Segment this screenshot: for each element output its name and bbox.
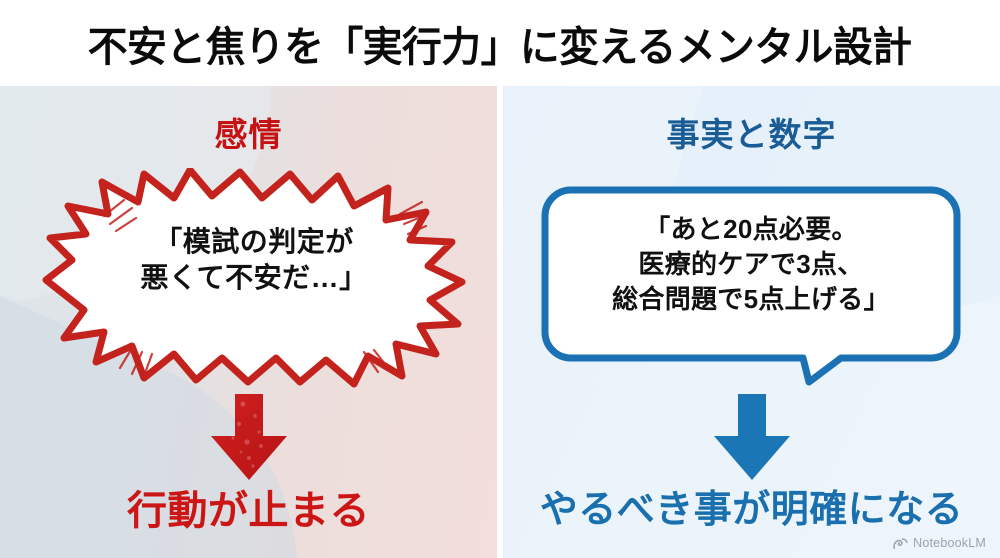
conclusion-facts: やるべき事が明確になる bbox=[503, 478, 1000, 533]
notebooklm-watermark: NotebookLM bbox=[893, 536, 986, 550]
burst-bubble-line-1: 「模試の判定が bbox=[28, 224, 480, 260]
panel-facts: 事実と数字 「あと20点必要。 医療的ケアで3点、 総合問題で5点上げる」 やる… bbox=[503, 86, 1000, 558]
rounded-speech-bubble: 「あと20点必要。 医療的ケアで3点、 総合問題で5点上げる」 bbox=[541, 186, 961, 386]
burst-speech-bubble: 「模試の判定が 悪くて不安だ…」 bbox=[28, 168, 480, 390]
panel-header-facts: 事実と数字 bbox=[503, 108, 1000, 156]
panel-emotion: 感情 「模試の判定が bbox=[0, 86, 497, 558]
speech-bubble-text: 「あと20点必要。 医療的ケアで3点、 総合問題で5点上げる」 bbox=[541, 212, 961, 316]
down-arrow-red-icon bbox=[203, 394, 295, 480]
page-title: 不安と焦りを「実行力」に変えるメンタル設計 bbox=[88, 13, 912, 73]
notebooklm-icon bbox=[893, 537, 908, 550]
burst-bubble-text: 「模試の判定が 悪くて不安だ…」 bbox=[28, 224, 480, 296]
speech-bubble-line-1: 「あと20点必要。 bbox=[541, 212, 961, 247]
title-band: 不安と焦りを「実行力」に変えるメンタル設計 bbox=[0, 0, 1000, 86]
conclusion-emotion: 行動が止まる bbox=[0, 478, 497, 536]
slide-canvas: 不安と焦りを「実行力」に変えるメンタル設計 感情 bbox=[0, 0, 1000, 558]
burst-bubble-line-2: 悪くて不安だ…」 bbox=[28, 260, 480, 296]
watermark-label: NotebookLM bbox=[913, 536, 986, 550]
speech-bubble-line-2: 医療的ケアで3点、 bbox=[541, 247, 961, 282]
panel-header-emotion: 感情 bbox=[0, 108, 497, 156]
down-arrow-blue-icon bbox=[706, 394, 798, 480]
speech-bubble-line-3: 総合問題で5点上げる」 bbox=[541, 282, 961, 317]
